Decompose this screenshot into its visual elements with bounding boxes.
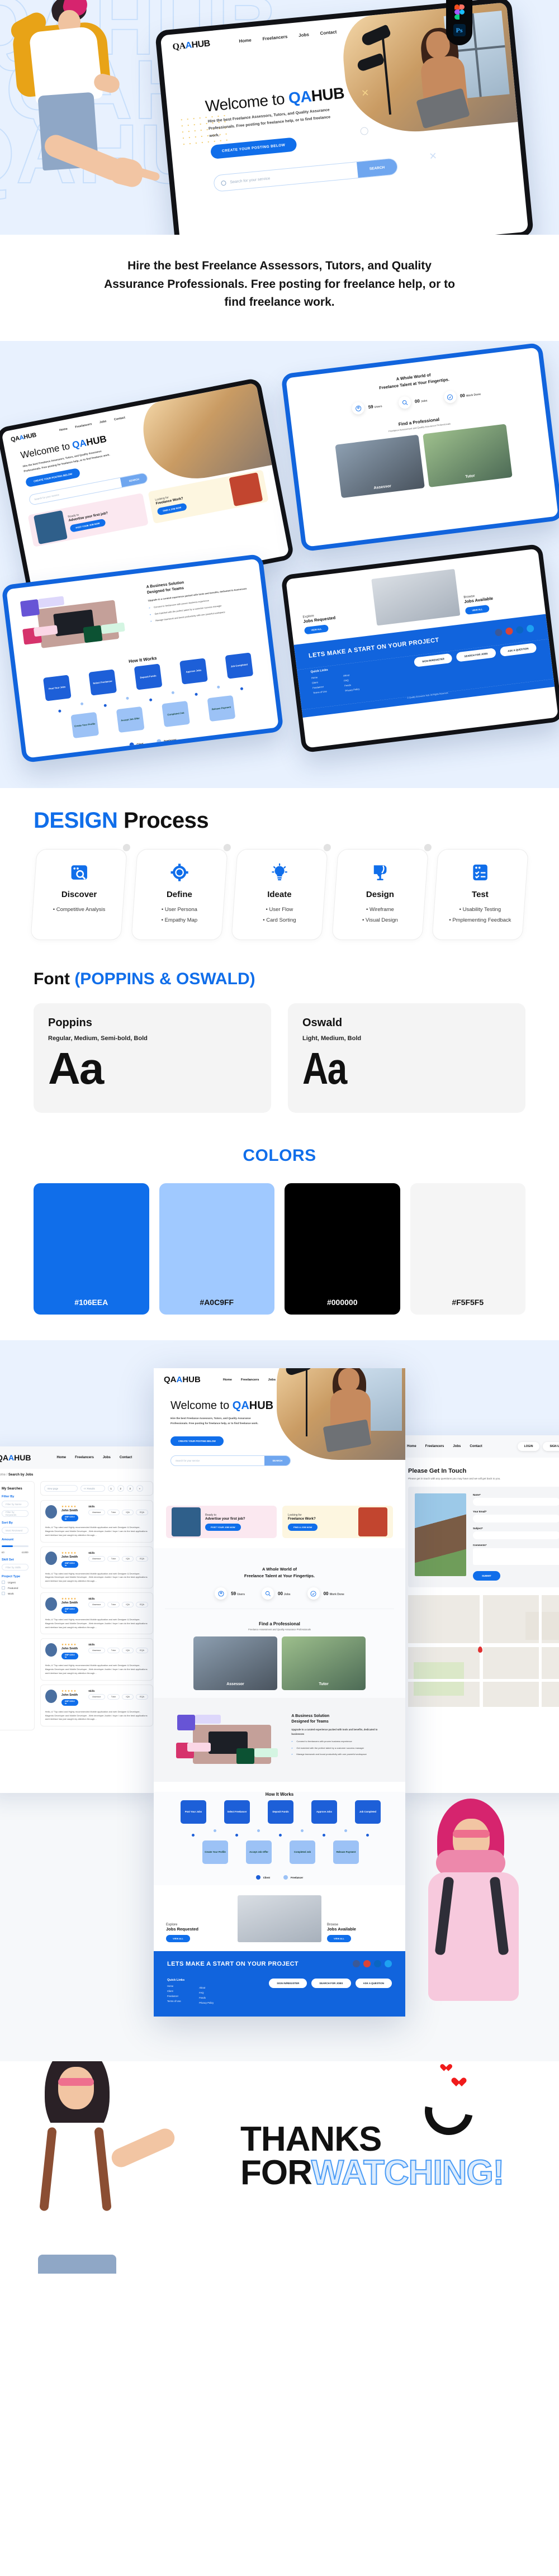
freelancer-name: John Smith <box>61 1509 78 1512</box>
google-plus-icon[interactable] <box>505 627 513 635</box>
card-tutor[interactable]: Tutor <box>423 424 513 487</box>
font-name: Oswald <box>302 1017 511 1030</box>
landing-page-full: QAAHUB Home Freelancers Jobs Contact LOG… <box>154 1368 405 2017</box>
facebook-icon[interactable] <box>353 1960 360 1967</box>
skill-select[interactable]: Filter by Skills <box>2 1564 29 1571</box>
contact-page: Home Freelancers Jobs Contact LOGIN SIGN… <box>398 1435 559 1793</box>
font-name: Poppins <box>48 1017 257 1030</box>
contact-subtitle: Please get in touch with any questions y… <box>408 1477 559 1480</box>
rating-stars: ★★★★★ <box>61 1690 78 1693</box>
how-it-works-block: How It Works Post Your Jobs Select Freel… <box>16 642 278 758</box>
browser-search-icon <box>70 863 89 882</box>
results-toolbar: View page << Results 1 2 3 » <box>40 1481 153 1496</box>
subject-label: Subject* <box>473 1527 559 1530</box>
logo[interactable]: QAAHUB <box>172 39 211 52</box>
rating-stars: ★★★★★ <box>61 1505 78 1508</box>
filter-sidebar: My Searches Filter By Filter by Name Fil… <box>0 1481 35 1730</box>
heart-icon <box>452 2078 462 2087</box>
circle-decoration <box>360 127 368 135</box>
banner-advertise-job[interactable]: Ready to Advertise your first job? POST … <box>166 1506 277 1538</box>
font-card-oswald: Oswald Light, Medium, Bold Aa <box>288 1003 525 1113</box>
search-icon <box>221 180 226 186</box>
filter-name-input[interactable]: Filter by Name <box>2 1501 29 1507</box>
user-icon <box>215 1587 227 1600</box>
font-card-poppins: Poppins Regular, Medium, Semi-bold, Bold… <box>34 1003 271 1113</box>
font-section: Font (POPPINS & OSWALD) Poppins Regular,… <box>0 956 559 1132</box>
process-step-name: Discover <box>42 890 116 899</box>
business-title: A Business SolutionDesigned for Teams <box>291 1714 383 1725</box>
search-button[interactable]: SEARCH <box>357 158 398 178</box>
breadcrumb: Home / Search by Jobs <box>0 1469 161 1481</box>
process-step-item: • Wireframe <box>343 906 417 914</box>
color-swatch-light-blue: #A0C9FF <box>159 1183 275 1315</box>
nav-item-contact[interactable]: Contact <box>470 1445 482 1448</box>
nav-item-freelancers[interactable]: Freelancers <box>75 1456 94 1459</box>
search-bar[interactable]: Search for your service SEARCH <box>170 1455 291 1466</box>
team-collage <box>176 1714 283 1775</box>
signin-register-button[interactable]: SIGN IN/REGISTER <box>269 1979 307 1988</box>
subject-field[interactable] <box>473 1531 559 1539</box>
explore-jobs-requested: Explore Jobs Requested VIEW ALL <box>302 608 371 634</box>
nav-item-home[interactable]: Home <box>56 1456 66 1459</box>
rating-stars: ★★★★★ <box>61 1643 78 1647</box>
freelancer-result-row[interactable]: ★★★★★ John Smith GBP £25.0 hr Skills Ass… <box>40 1500 153 1542</box>
logo[interactable]: QAAHUB <box>10 431 37 443</box>
find-job-button[interactable]: FIND A JOB NOW <box>157 502 187 515</box>
nav-item-home[interactable]: Home <box>239 37 252 44</box>
browse-jobs-available: Browse Jobs Available VIEW ALL <box>463 587 532 614</box>
freelancer-result-row[interactable]: ★★★★★ John Smith GBP £25.0 hr Skills Ass… <box>40 1685 153 1726</box>
find-job-button[interactable]: FIND A JOB NOW <box>288 1524 318 1531</box>
footer-link[interactable]: Terms of Use <box>313 689 331 694</box>
business-solution-block: A Business SolutionDesigned for Teams Up… <box>165 1701 394 1775</box>
group-photo <box>371 568 460 625</box>
hiw-step-freelancer: Completed Job <box>290 1840 315 1864</box>
skills-label: Skills <box>88 1505 148 1508</box>
target-icon <box>169 863 188 882</box>
process-step-item: • Pmplementing Feedback <box>443 916 517 924</box>
thanks-line2-black: FOR <box>240 2153 311 2192</box>
freelancer-description: Hello, A "Top rated and Highly recommend… <box>45 1572 148 1583</box>
twitter-icon[interactable] <box>526 624 534 632</box>
view-all-requested-button[interactable]: VIEW ALL <box>304 624 329 634</box>
hiw-step-freelancer: Create Your Profile <box>202 1840 228 1864</box>
legend-freelancer: Freelancer <box>157 737 177 743</box>
hero-paragraph: Hire the best Freelance Assessors, Tutor… <box>170 1416 266 1426</box>
search-input[interactable]: Search for your service <box>34 494 59 501</box>
font-cards: Poppins Regular, Medium, Semi-bold, Bold… <box>34 1003 525 1113</box>
nav-item-freelancers[interactable]: Freelancers <box>262 34 288 41</box>
freelancer-name: John Smith <box>61 1647 78 1650</box>
mockup-grid-section: QAAHUB Home Freelancers Jobs Contact LOG… <box>0 341 559 788</box>
color-hex-label: #F5F5F5 <box>410 1298 526 1307</box>
hero-tablet-mockup: QAAHUB Home Freelancers Jobs Contact LOG… <box>155 0 534 235</box>
showcase-section: QAAHUB Home Freelancers Jobs Contact Hom… <box>0 1340 559 2061</box>
signup-button[interactable]: SIGN UP <box>543 1442 559 1451</box>
footer-link[interactable]: Privacy Policy <box>199 2001 214 2004</box>
hiw-step-freelancer: Completed Job <box>162 700 190 727</box>
site-navbar: QAAHUB Home Freelancers Jobs Contact <box>0 1446 161 1469</box>
colors-section: COLORS #106EEA #A0C9FF #000000 #F5F5F5 <box>0 1132 559 1340</box>
amount-slider[interactable] <box>2 1545 29 1547</box>
nav-links: Home Freelancers Jobs Contact <box>239 29 337 44</box>
process-step-name: Define <box>143 890 216 899</box>
heart-icon <box>440 2065 448 2072</box>
user-icon <box>352 401 366 415</box>
font-sample: Aa <box>48 1044 257 1093</box>
avatar <box>45 1552 57 1565</box>
thanks-section: THANKS FORWATCHING! <box>0 2061 559 2274</box>
team-collage <box>19 586 146 661</box>
footer-link[interactable]: Freelancer <box>167 1995 184 1998</box>
name-label: Name* <box>473 1493 559 1496</box>
filter-title: My Searches <box>2 1487 29 1491</box>
thanks-line2-blue: WATCHING! <box>311 2153 504 2192</box>
google-plus-icon[interactable] <box>363 1960 371 1967</box>
process-step-item: • Empathy Map <box>143 916 216 924</box>
footer-link[interactable]: FAQ <box>344 677 358 682</box>
process-step-item: • Card Sorting <box>243 916 316 924</box>
photoshop-icon: Ps <box>453 24 466 36</box>
view-all-available-button[interactable]: VIEW ALL <box>327 1935 351 1942</box>
process-step-item: • Competitive Analysis <box>42 906 116 914</box>
filter-keyword-input[interactable]: Filter by Keywords <box>2 1510 29 1517</box>
ask-question-button[interactable]: ASK A QUESTION <box>356 1979 392 1988</box>
ask-question-button[interactable]: ASK A QUESTION <box>499 643 537 657</box>
footer-link[interactable]: About <box>199 1986 214 1989</box>
rate-badge: GBP £25.0 hr <box>61 1515 78 1521</box>
contact-form: Name* Your Email* Subject* Comments* SUB… <box>408 1487 559 1587</box>
search-icon <box>398 396 412 410</box>
avatar <box>45 1690 57 1703</box>
hiw-step-freelancer: Accept Job Offer <box>116 706 145 732</box>
search-icon <box>262 1587 274 1600</box>
search-jobs-button[interactable]: SEARCH FOR JOBS <box>311 1979 350 1988</box>
email-label: Your Email* <box>473 1510 559 1513</box>
hiw-step-client: Approve Jobs <box>311 1800 337 1824</box>
page-button[interactable]: 1 <box>108 1485 115 1492</box>
page-button[interactable]: 3 <box>127 1485 134 1492</box>
color-swatch-off-white: #F5F5F5 <box>410 1183 526 1315</box>
email-field[interactable] <box>473 1515 559 1522</box>
rate-badge: GBP £25.0 hr <box>61 1699 78 1706</box>
figma-icon <box>454 4 465 19</box>
process-step-item: • User Flow <box>243 906 316 914</box>
freelancer-name: John Smith <box>61 1693 78 1697</box>
project-type-option[interactable]: Featured <box>2 1586 29 1590</box>
search-jobs-button[interactable]: SEARCH FOR JOBS <box>456 648 496 662</box>
design-process-cards: Discover • Competitive Analysis Define •… <box>34 849 525 940</box>
stat-work-done: 00Work Done <box>307 1587 344 1600</box>
search-input[interactable]: Search for your service <box>176 1459 200 1462</box>
nav-item-contact[interactable]: Contact <box>320 29 337 36</box>
x-decoration: ✕ <box>361 87 369 99</box>
presentation-page: QAHUB QAHUB QAHUB Ps QAA <box>0 0 559 2274</box>
footer-link[interactable]: Home <box>311 674 329 679</box>
promo-banners: Ready to Advertise your first job? POST … <box>154 1506 405 1538</box>
hiw-step-freelancer: Release Payment <box>207 695 236 721</box>
group-photo <box>238 1895 321 1942</box>
banner-find-work[interactable]: Looking for Freelance Work? FIND A JOB N… <box>148 469 269 524</box>
process-step-name: Test <box>443 890 517 899</box>
search-button[interactable]: SEARCH <box>120 473 148 487</box>
logo[interactable]: QAAHUB <box>164 1375 201 1384</box>
tagline-text: Hire the best Freelance Assessors, Tutor… <box>101 257 458 312</box>
hero-photo <box>339 2 518 138</box>
signin-register-button[interactable]: SIGN IN/REGISTER <box>414 653 453 667</box>
hiw-step-freelancer: Accept Job Offer <box>246 1840 272 1864</box>
sort-by-label: Sort By <box>2 1521 29 1525</box>
hero-section: QAHUB QAHUB QAHUB Ps QAA <box>0 0 559 235</box>
nav-item-jobs[interactable]: Jobs <box>453 1445 461 1448</box>
lightbulb-icon <box>270 863 289 882</box>
nav-item-home[interactable]: Home <box>223 1378 232 1382</box>
footer-link[interactable]: Home <box>167 1985 184 1987</box>
check-icon <box>307 1587 320 1600</box>
freelancer-name: John Smith <box>61 1555 78 1559</box>
search-button[interactable]: SEARCH <box>264 1456 290 1465</box>
process-step-item: • User Persona <box>143 906 216 914</box>
post-job-button[interactable]: POST YOUR JOB NOW <box>205 1524 241 1531</box>
color-hex-label: #106EEA <box>34 1298 149 1307</box>
nav-item-jobs[interactable]: Jobs <box>268 1378 276 1382</box>
stats-row: 59Users 00Jobs 00Work Done <box>165 1587 394 1600</box>
hiw-step-client: Deposit Funds <box>268 1800 293 1824</box>
results-count: << Results <box>80 1485 105 1492</box>
nav-item-jobs[interactable]: Jobs <box>103 1456 111 1459</box>
map-pin <box>478 1647 482 1653</box>
process-step-ideate[interactable]: Ideate • User Flow • Card Sorting <box>231 849 328 940</box>
name-field[interactable] <box>473 1498 559 1506</box>
hiw-step-client: Job Completed <box>225 652 253 679</box>
professional-cards: Assessor Tutor <box>165 1636 394 1690</box>
freelancer-result-row[interactable]: ★★★★★ John Smith GBP £25.0 hr Skills Ass… <box>40 1546 153 1588</box>
color-swatch-primary: #106EEA <box>34 1183 149 1315</box>
hero-search-bar[interactable]: Search for your service SEARCH <box>213 158 398 192</box>
site-footer: Quick Links Home Client Freelancer Terms… <box>154 1976 405 2017</box>
rating-stars: ★★★★★ <box>61 1552 78 1555</box>
x-decoration: ✕ <box>429 150 438 162</box>
linkedin-icon[interactable] <box>516 625 524 633</box>
font-section-title: Font (POPPINS & OSWALD) <box>34 970 525 989</box>
filter-by-label: Filter By <box>2 1495 29 1498</box>
process-step-name: Design <box>343 890 417 899</box>
card-tutor[interactable]: Tutor <box>282 1636 366 1690</box>
legend-client: Client <box>256 1875 270 1880</box>
sort-by-select[interactable]: Most Reviewed <box>2 1527 29 1534</box>
stats-title: A Whole World of Freelance Talent at You… <box>165 1566 394 1579</box>
logo[interactable]: QAAHUB <box>0 1453 31 1462</box>
process-step-item: • Usability Testing <box>443 906 517 914</box>
facebook-icon[interactable] <box>495 628 503 636</box>
pointing-hand <box>76 139 160 211</box>
footer-link[interactable]: Freelancer <box>312 684 330 689</box>
nav-item-contact[interactable]: Contact <box>114 416 126 421</box>
skill-set-label: Skill Set <box>2 1558 29 1562</box>
cta-banner: LETS MAKE A START ON YOUR PROJECT <box>154 1951 405 1976</box>
twitter-icon[interactable] <box>385 1960 392 1967</box>
how-it-works-block: How It Works Post Your Jobs Select Freel… <box>165 1792 394 1880</box>
view-page-select[interactable]: View page <box>44 1485 78 1492</box>
browse-jobs-available: Browse Jobs Available VIEW ALL <box>327 1923 393 1942</box>
freelancer-result-row[interactable]: ★★★★★ John Smith GBP £25.0 hr Skills Ass… <box>40 1592 153 1634</box>
submit-button[interactable]: SUBMIT <box>473 1571 500 1581</box>
footer-link[interactable]: Feeds <box>344 682 359 687</box>
tablet-mockup-stats: A Whole World of Freelance Talent at You… <box>281 342 559 552</box>
freelancer-description: Hello, A "Top rated and Highly recommend… <box>45 1664 148 1675</box>
page-button[interactable]: 2 <box>117 1485 124 1492</box>
office-photo <box>415 1493 466 1576</box>
paint-brush-icon <box>371 863 390 882</box>
footer-link[interactable]: Privacy Policy <box>345 687 359 692</box>
rating-stars: ★★★★★ <box>61 1597 78 1601</box>
explore-jobs-requested: Explore Jobs Requested VIEW ALL <box>166 1923 232 1942</box>
process-step-discover[interactable]: Discover • Competitive Analysis <box>30 849 127 940</box>
rate-badge: GBP £25.0 hr <box>61 1607 78 1614</box>
page-next-button[interactable]: » <box>136 1485 143 1492</box>
site-navbar: Home Freelancers Jobs Contact LOGIN SIGN… <box>398 1435 559 1458</box>
login-button[interactable]: LOGIN <box>518 1442 540 1451</box>
avatar <box>45 1597 57 1611</box>
model-photo-bottom-left <box>6 2061 151 2274</box>
hiw-step-client: Deposit Funds <box>134 663 163 690</box>
view-all-available-button[interactable]: VIEW ALL <box>465 605 490 615</box>
view-all-requested-button[interactable]: VIEW ALL <box>166 1935 190 1942</box>
avatar <box>45 1643 57 1657</box>
stat-users: 59Users <box>215 1587 245 1600</box>
find-professional-block: Find a Professional Freelance Assessment… <box>165 1621 394 1631</box>
project-type-option[interactable]: Work <box>2 1592 29 1595</box>
project-type-option[interactable]: Urgent <box>2 1581 29 1584</box>
hero-photo <box>277 1368 405 1460</box>
hiw-step-client: Post Your Jobs <box>43 675 72 701</box>
footer-link[interactable]: About <box>343 672 358 677</box>
model-photo-right <box>409 1799 549 2033</box>
color-swatches: #106EEA #A0C9FF #000000 #F5F5F5 <box>34 1183 525 1315</box>
hiw-legend: Client Freelancer <box>165 1875 394 1880</box>
social-links <box>353 1960 392 1967</box>
color-hex-label: #A0C9FF <box>159 1298 275 1307</box>
amount-min: £0 <box>2 1551 4 1554</box>
amount-max: £1000 <box>22 1551 29 1554</box>
legend-client: Client <box>129 741 144 747</box>
footer-heading: Quick Links <box>310 668 328 673</box>
process-step-name: Ideate <box>243 890 316 899</box>
breadcrumb-current: Search by Jobs <box>8 1473 33 1477</box>
hiw-step-freelancer: Release Payment <box>333 1840 359 1864</box>
footer-link[interactable]: Terms of Use <box>167 2000 184 2003</box>
hiw-step-client: Job Completed <box>355 1800 381 1824</box>
hiw-step-client: Select Freelancer <box>224 1800 250 1824</box>
font-weights: Regular, Medium, Semi-bold, Bold <box>48 1035 257 1042</box>
nav-item-jobs[interactable]: Jobs <box>299 32 309 38</box>
nav-item-jobs[interactable]: Jobs <box>100 420 107 424</box>
comments-label: Comments* <box>473 1544 559 1546</box>
stat-jobs: 00Jobs <box>398 393 428 409</box>
nav-item-freelancers[interactable]: Freelancers <box>241 1378 259 1382</box>
design-process-title: DESIGN Process <box>34 808 525 833</box>
amount-label: Amount <box>2 1538 29 1541</box>
color-swatch-black: #000000 <box>285 1183 400 1315</box>
search-input[interactable]: Search for your service <box>230 177 270 184</box>
contact-title: Please Get In Touch <box>408 1468 559 1474</box>
rate-badge: GBP £25.0 hr <box>61 1561 78 1568</box>
card-assessor[interactable]: Assessor <box>193 1636 277 1690</box>
font-weights: Light, Medium, Bold <box>302 1035 511 1042</box>
color-hex-label: #000000 <box>285 1298 400 1307</box>
hero-headline: Welcome to QAHUB <box>170 1400 273 1412</box>
social-links <box>495 624 534 636</box>
legend-freelancer: Freelancer <box>283 1875 303 1880</box>
process-step-design[interactable]: Design • Wireframe • Visual Design <box>331 849 428 940</box>
freelancer-name: John Smith <box>61 1601 78 1605</box>
checklist-icon <box>471 863 490 882</box>
freelancer-result-row[interactable]: ★★★★★ John Smith GBP £25.0 hr Skills Ass… <box>40 1638 153 1680</box>
rate-badge: GBP £25.0 hr <box>61 1653 78 1659</box>
location-map[interactable] <box>408 1595 559 1707</box>
cta-title: LETS MAKE A START ON YOUR PROJECT <box>167 1961 299 1967</box>
stat-users: 59Users <box>352 399 383 415</box>
footer-link[interactable]: Client <box>167 1990 184 1993</box>
project-type-label: Project Type <box>2 1575 29 1578</box>
card-assessor[interactable]: Assessor <box>335 434 425 498</box>
thanks-title: THANKS FORWATCHING! <box>240 2123 504 2189</box>
jobs-search-page: QAAHUB Home Freelancers Jobs Contact Hom… <box>0 1446 161 1793</box>
avatar <box>45 1505 57 1519</box>
stat-work-done: 00Work Done <box>443 387 481 404</box>
tools-pill: Ps <box>446 0 472 45</box>
breadcrumb-home[interactable]: Home <box>0 1473 6 1477</box>
tagline-section: Hire the best Freelance Assessors, Tutor… <box>0 235 559 341</box>
explore-browse-block: Explore Jobs Requested VIEW ALL Browse J… <box>154 1885 405 1942</box>
design-process-section: DESIGN Process Discover • Competitive An… <box>0 788 559 957</box>
tablet-mockup-footer: Explore Jobs Requested VIEW ALL Browse J… <box>281 543 559 753</box>
create-posting-button[interactable]: CREATE YOUR POSTING BELOW <box>170 1436 224 1446</box>
nav-item-home[interactable]: Home <box>59 427 68 432</box>
hiw-step-freelancer: Create Your Profile <box>70 711 99 738</box>
stat-jobs: 00Jobs <box>262 1587 291 1600</box>
nav-item-home[interactable]: Home <box>407 1445 416 1448</box>
check-icon <box>443 390 457 404</box>
nav-item-contact[interactable]: Contact <box>120 1456 132 1459</box>
footer-link[interactable]: Client <box>312 679 330 684</box>
freelancer-description: Hello, A "Top rated and Highly recommend… <box>45 1710 148 1721</box>
jobs-results-list: View page << Results 1 2 3 » ★★★★★ John … <box>40 1481 153 1730</box>
nav-item-freelancers[interactable]: Freelancers <box>425 1445 444 1448</box>
freelancer-description: Hello, A "Top rated and Highly recommend… <box>45 1526 148 1537</box>
nav-item-freelancers[interactable]: Freelancers <box>75 423 92 429</box>
process-step-define[interactable]: Define • User Persona • Empathy Map <box>131 849 228 940</box>
hiw-step-client: Select Freelancer <box>88 669 117 695</box>
linkedin-icon[interactable] <box>374 1960 381 1967</box>
font-sample: Aa <box>302 1044 469 1093</box>
hiw-step-client: Post Your Jobs <box>181 1800 206 1824</box>
comments-field[interactable] <box>473 1548 559 1565</box>
process-step-item: • Visual Design <box>343 916 417 924</box>
freelancer-description: Hello, A "Top rated and Highly recommend… <box>45 1618 148 1629</box>
tablet-mockup-business: A Business SolutionDesigned for Teams Up… <box>1 553 283 763</box>
footer-link[interactable]: Feeds <box>199 1996 214 1999</box>
process-step-test[interactable]: Test • Usability Testing • Pmplementing … <box>432 849 529 940</box>
colors-title: COLORS <box>34 1146 525 1165</box>
banner-find-work[interactable]: Looking for Freelance Work? FIND A JOB N… <box>282 1506 393 1538</box>
hiw-step-client: Approve Jobs <box>179 658 208 684</box>
footer-link[interactable]: FAQ <box>199 1991 214 1994</box>
